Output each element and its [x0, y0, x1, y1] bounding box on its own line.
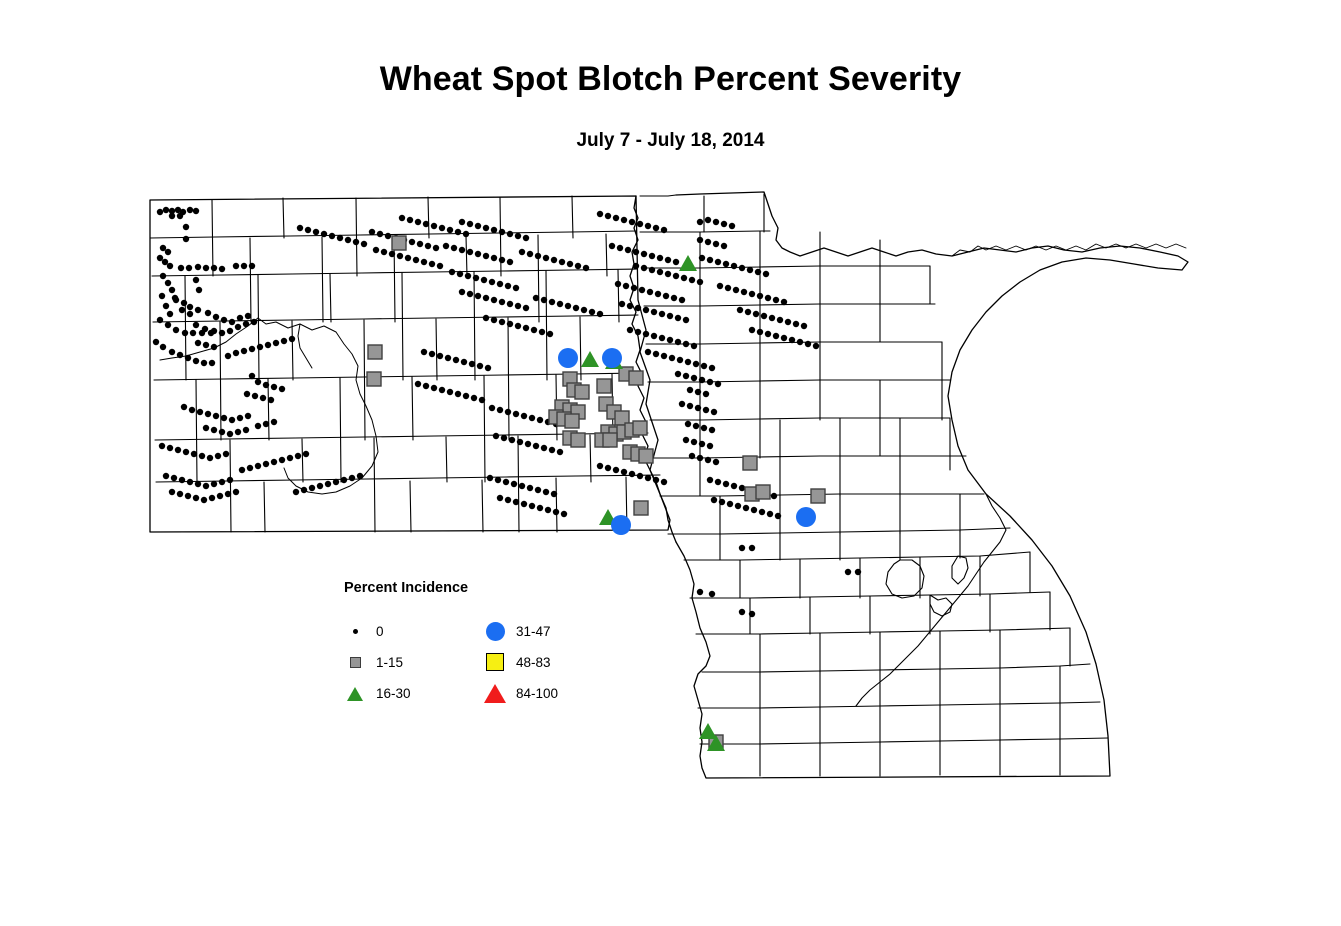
map-point-zero	[523, 235, 529, 241]
map-point-zero	[495, 477, 501, 483]
map-point-zero	[707, 379, 713, 385]
map-point-zero	[511, 481, 517, 487]
map-point-zero	[193, 495, 199, 501]
map-point-zero	[153, 339, 159, 345]
map-point-zero	[211, 481, 217, 487]
map-point-zero	[733, 287, 739, 293]
map-point-zero	[213, 314, 219, 320]
map-point-zero	[527, 485, 533, 491]
map-point-zero	[215, 453, 221, 459]
map-point-zero	[679, 297, 685, 303]
map-point-zero	[725, 285, 731, 291]
map-point-zero	[507, 231, 513, 237]
map-point-zero	[723, 261, 729, 267]
map-point-zero	[689, 453, 695, 459]
map-point-zero	[737, 307, 743, 313]
map-point-zero	[503, 479, 509, 485]
map-point-zero	[181, 404, 187, 410]
map-point-zero	[497, 407, 503, 413]
map-point-zero	[329, 233, 335, 239]
map-point-zero	[437, 353, 443, 359]
map-point-zero	[657, 269, 663, 275]
map-point-zero	[223, 451, 229, 457]
legend-item-5[interactable]: 84-100	[484, 684, 558, 703]
map-point-zero	[641, 265, 647, 271]
legend-item-4[interactable]: 48-83	[484, 653, 551, 671]
map-point-zero	[715, 259, 721, 265]
map-point-zero	[513, 285, 519, 291]
map-point-zero	[399, 215, 405, 221]
map-point-zero	[201, 497, 207, 503]
map-point-zero	[221, 415, 227, 421]
map-point-zero	[757, 329, 763, 335]
map-point-zero	[211, 265, 217, 271]
map-point-zero	[271, 459, 277, 465]
map-point-zero	[673, 273, 679, 279]
map-point-zero	[699, 255, 705, 261]
map-point-zero	[683, 437, 689, 443]
map-point-zero	[241, 263, 247, 269]
map-point-1-15	[634, 501, 648, 515]
map-point-zero	[755, 269, 761, 275]
map-point-zero	[645, 475, 651, 481]
map-point-zero	[507, 259, 513, 265]
map-point-zero	[239, 467, 245, 473]
map-point-zero	[353, 239, 359, 245]
map-point-zero	[175, 447, 181, 453]
map-point-zero	[703, 407, 709, 413]
yellow-square-icon	[484, 653, 506, 671]
map-point-zero	[263, 421, 269, 427]
map-point-zero	[649, 267, 655, 273]
map-point-zero	[229, 319, 235, 325]
map-point-zero	[455, 391, 461, 397]
map-point-zero	[655, 291, 661, 297]
map-point-zero	[707, 443, 713, 449]
map-point-zero	[515, 233, 521, 239]
map-point-zero	[789, 337, 795, 343]
map-point-zero	[187, 207, 193, 213]
map-point-zero	[613, 467, 619, 473]
map-point-zero	[699, 377, 705, 383]
map-point-zero	[471, 395, 477, 401]
map-point-zero	[741, 289, 747, 295]
legend-title: Percent Incidence	[344, 580, 604, 596]
map-point-zero	[227, 477, 233, 483]
map-point-zero	[621, 217, 627, 223]
map-point-zero	[701, 425, 707, 431]
map-point-zero	[485, 365, 491, 371]
map-point-zero	[605, 213, 611, 219]
map-point-zero	[255, 379, 261, 385]
map-point-1-15	[629, 371, 643, 385]
map-point-zero	[657, 255, 663, 261]
map-point-zero	[855, 569, 861, 575]
map-point-1-15	[368, 345, 382, 359]
map-point-zero	[739, 265, 745, 271]
map-point-zero	[679, 401, 685, 407]
map-point-31-47	[558, 348, 578, 368]
map-point-zero	[243, 321, 249, 327]
green-triangle-icon	[344, 687, 366, 701]
map-point-zero	[645, 349, 651, 355]
map-point-zero	[745, 309, 751, 315]
map-point-zero	[753, 311, 759, 317]
map-point-zero	[537, 417, 543, 423]
map-point-zero	[439, 387, 445, 393]
map-point-zero	[537, 505, 543, 511]
map-point-zero	[475, 293, 481, 299]
map-point-zero	[467, 249, 473, 255]
map-point-zero	[573, 305, 579, 311]
map-point-zero	[181, 300, 187, 306]
map-point-zero	[705, 239, 711, 245]
map-point-zero	[235, 324, 241, 330]
map-point-zero	[257, 344, 263, 350]
map-point-zero	[653, 477, 659, 483]
map-point-zero	[167, 311, 173, 317]
map-point-zero	[249, 263, 255, 269]
map-point-zero	[187, 479, 193, 485]
map-point-16-30	[699, 723, 717, 739]
legend-item-label: 84-100	[516, 686, 558, 701]
map-point-zero	[459, 289, 465, 295]
map-point-zero	[229, 417, 235, 423]
map-point-zero	[491, 297, 497, 303]
map-point-zero	[523, 325, 529, 331]
map-point-zero	[697, 279, 703, 285]
map-point-zero	[659, 311, 665, 317]
map-point-zero	[157, 317, 163, 323]
map-point-zero	[653, 225, 659, 231]
map-point-zero	[661, 479, 667, 485]
map-point-zero	[305, 227, 311, 233]
map-point-zero	[635, 329, 641, 335]
legend-item-label: 48-83	[516, 655, 551, 670]
legend-item-3[interactable]: 31-47	[484, 622, 551, 641]
map-point-zero	[183, 449, 189, 455]
map-point-zero	[207, 455, 213, 461]
map-point-1-15	[367, 372, 381, 386]
map-point-31-47	[611, 515, 631, 535]
map-point-zero	[203, 483, 209, 489]
map-point-zero	[245, 313, 251, 319]
map-point-zero	[313, 229, 319, 235]
map-point-zero	[625, 247, 631, 253]
map-point-zero	[182, 330, 188, 336]
map-point-zero	[773, 297, 779, 303]
map-point-zero	[717, 283, 723, 289]
map-point-zero	[749, 291, 755, 297]
map-point-zero	[227, 328, 233, 334]
map-point-zero	[701, 363, 707, 369]
map-point-zero	[183, 224, 189, 230]
map-point-zero	[171, 475, 177, 481]
map-point-zero	[797, 339, 803, 345]
map-point-zero	[545, 507, 551, 513]
map-point-zero	[165, 249, 171, 255]
map-point-zero	[481, 277, 487, 283]
map-point-zero	[781, 299, 787, 305]
map-point-zero	[169, 287, 175, 293]
map-point-zero	[765, 295, 771, 301]
map-point-zero	[219, 479, 225, 485]
map-point-zero	[675, 315, 681, 321]
map-point-zero	[467, 221, 473, 227]
map-point-zero	[279, 457, 285, 463]
map-point-zero	[763, 271, 769, 277]
map-point-zero	[713, 459, 719, 465]
map-point-zero	[565, 303, 571, 309]
map-point-zero	[665, 271, 671, 277]
map-point-zero	[659, 335, 665, 341]
map-point-zero	[499, 229, 505, 235]
map-point-zero	[583, 265, 589, 271]
map-point-zero	[597, 311, 603, 317]
map-point-zero	[695, 405, 701, 411]
map-point-zero	[559, 259, 565, 265]
map-point-zero	[463, 231, 469, 237]
map-point-zero	[705, 217, 711, 223]
map-point-zero	[199, 453, 205, 459]
map-point-zero	[289, 336, 295, 342]
map-point-zero	[705, 457, 711, 463]
map-point-zero	[749, 611, 755, 617]
map-point-zero	[178, 265, 184, 271]
map-point-1-15	[392, 236, 406, 250]
map-point-zero	[237, 415, 243, 421]
map-point-zero	[605, 465, 611, 471]
map-point-zero	[489, 279, 495, 285]
map-point-zero	[629, 219, 635, 225]
map-point-zero	[749, 545, 755, 551]
map-point-zero	[429, 261, 435, 267]
map-point-zero	[163, 303, 169, 309]
map-point-zero	[479, 397, 485, 403]
map-point-zero	[163, 473, 169, 479]
map-point-zero	[767, 511, 773, 517]
map-point-zero	[527, 251, 533, 257]
map-point-zero	[813, 343, 819, 349]
map-point-zero	[186, 265, 192, 271]
map-point-zero	[633, 249, 639, 255]
gray-square-icon	[344, 657, 366, 668]
map-point-31-47	[796, 507, 816, 527]
map-point-1-15	[565, 414, 579, 428]
map-point-zero	[643, 307, 649, 313]
map-point-zero	[693, 423, 699, 429]
map-point-1-15	[633, 421, 647, 435]
map-point-zero	[195, 340, 201, 346]
map-point-zero	[193, 322, 199, 328]
map-point-zero	[675, 339, 681, 345]
map-point-zero	[249, 373, 255, 379]
legend-item-label: 31-47	[516, 624, 551, 639]
map-point-zero	[689, 277, 695, 283]
map-point-zero	[619, 301, 625, 307]
map-point-zero	[251, 319, 257, 325]
map-point-zero	[507, 301, 513, 307]
legend-item-2[interactable]: 16-30	[344, 686, 411, 701]
map-page: Wheat Spot Blotch Percent Severity July …	[0, 0, 1341, 926]
map-point-zero	[581, 307, 587, 313]
map-point-zero	[721, 243, 727, 249]
map-point-zero	[252, 393, 258, 399]
map-point-zero	[303, 451, 309, 457]
map-point-zero	[233, 489, 239, 495]
map-point-zero	[201, 360, 207, 366]
map-point-zero	[465, 273, 471, 279]
map-point-zero	[187, 304, 193, 310]
map-point-zero	[703, 391, 709, 397]
map-point-zero	[499, 299, 505, 305]
map-point-zero	[709, 591, 715, 597]
map-point-zero	[707, 257, 713, 263]
map-point-zero	[193, 277, 199, 283]
map-point-zero	[567, 261, 573, 267]
map-point-zero	[160, 273, 166, 279]
map-point-zero	[519, 483, 525, 489]
map-point-zero	[169, 489, 175, 495]
map-point-zero	[237, 315, 243, 321]
map-point-zero	[759, 509, 765, 515]
legend-item-label: 16-30	[376, 686, 411, 701]
map-point-zero	[475, 223, 481, 229]
map-point-zero	[621, 469, 627, 475]
map-point-zero	[557, 449, 563, 455]
map-canvas[interactable]	[0, 0, 1341, 926]
map-point-zero	[279, 386, 285, 392]
map-point-zero	[205, 310, 211, 316]
map-point-zero	[735, 503, 741, 509]
map-point-zero	[547, 331, 553, 337]
map-point-zero	[683, 341, 689, 347]
map-point-zero	[197, 409, 203, 415]
map-point-zero	[773, 333, 779, 339]
map-point-zero	[421, 259, 427, 265]
map-point-zero	[535, 487, 541, 493]
map-point-zero	[505, 409, 511, 415]
map-point-zero	[499, 257, 505, 263]
map-point-zero	[775, 513, 781, 519]
map-point-zero	[177, 213, 183, 219]
map-point-zero	[255, 423, 261, 429]
map-point-16-30	[581, 351, 599, 367]
map-point-zero	[551, 257, 557, 263]
map-point-zero	[483, 253, 489, 259]
map-point-zero	[715, 381, 721, 387]
map-point-zero	[719, 499, 725, 505]
map-point-zero	[295, 453, 301, 459]
map-point-zero	[191, 451, 197, 457]
map-point-zero	[661, 353, 667, 359]
map-point-zero	[641, 251, 647, 257]
map-point-zero	[461, 359, 467, 365]
map-point-16-30	[679, 255, 697, 271]
map-point-zero	[431, 223, 437, 229]
map-point-zero	[361, 241, 367, 247]
map-point-zero	[213, 413, 219, 419]
map-point-zero	[163, 207, 169, 213]
map-point-zero	[385, 233, 391, 239]
map-point-zero	[597, 463, 603, 469]
map-point-zero	[373, 247, 379, 253]
map-point-zero	[443, 243, 449, 249]
map-point-zero	[469, 361, 475, 367]
map-point-zero	[477, 363, 483, 369]
map-point-1-15	[571, 433, 585, 447]
map-point-zero	[669, 355, 675, 361]
map-point-zero	[589, 309, 595, 315]
map-point-zero	[249, 346, 255, 352]
map-point-zero	[535, 253, 541, 259]
legend-item-1[interactable]: 1-15	[344, 655, 403, 670]
map-point-zero	[673, 259, 679, 265]
map-point-zero	[301, 487, 307, 493]
legend-item-0[interactable]: 0	[344, 624, 384, 639]
map-point-zero	[543, 489, 549, 495]
map-point-zero	[325, 481, 331, 487]
map-point-zero	[423, 383, 429, 389]
legend: Percent Incidence 0 1-15 16-30 31-47 48-…	[344, 580, 604, 715]
red-triangle-icon	[484, 684, 506, 703]
map-point-zero	[561, 511, 567, 517]
state-county-outlines	[150, 192, 1188, 778]
map-point-zero	[505, 497, 511, 503]
map-point-zero	[225, 353, 231, 359]
map-point-zero	[845, 569, 851, 575]
map-point-zero	[227, 431, 233, 437]
map-point-zero	[445, 355, 451, 361]
map-point-zero	[691, 343, 697, 349]
legend-item-label: 0	[376, 624, 384, 639]
map-point-zero	[243, 427, 249, 433]
map-point-zero	[681, 275, 687, 281]
map-point-zero	[415, 219, 421, 225]
map-point-zero	[723, 481, 729, 487]
map-point-1-15	[811, 489, 825, 503]
map-point-zero	[739, 485, 745, 491]
map-point-zero	[721, 221, 727, 227]
map-point-zero	[635, 305, 641, 311]
map-point-zero	[165, 322, 171, 328]
map-point-zero	[557, 301, 563, 307]
map-point-zero	[160, 344, 166, 350]
map-point-zero	[613, 215, 619, 221]
map-point-zero	[499, 319, 505, 325]
map-point-zero	[661, 227, 667, 233]
map-point-zero	[551, 491, 557, 497]
map-point-zero	[162, 259, 168, 265]
map-point-zero	[769, 315, 775, 321]
map-point-zero	[321, 231, 327, 237]
map-point-zero	[483, 225, 489, 231]
map-point-zero	[225, 491, 231, 497]
map-point-1-15	[603, 433, 617, 447]
map-point-zero	[475, 251, 481, 257]
map-point-zero	[209, 360, 215, 366]
map-point-zero	[169, 213, 175, 219]
map-point-zero	[377, 231, 383, 237]
map-point-zero	[533, 295, 539, 301]
map-point-zero	[437, 263, 443, 269]
map-point-zero	[751, 507, 757, 513]
map-point-zero	[459, 219, 465, 225]
map-point-zero	[793, 321, 799, 327]
map-point-zero	[255, 463, 261, 469]
map-point-zero	[431, 385, 437, 391]
map-point-zero	[651, 309, 657, 315]
